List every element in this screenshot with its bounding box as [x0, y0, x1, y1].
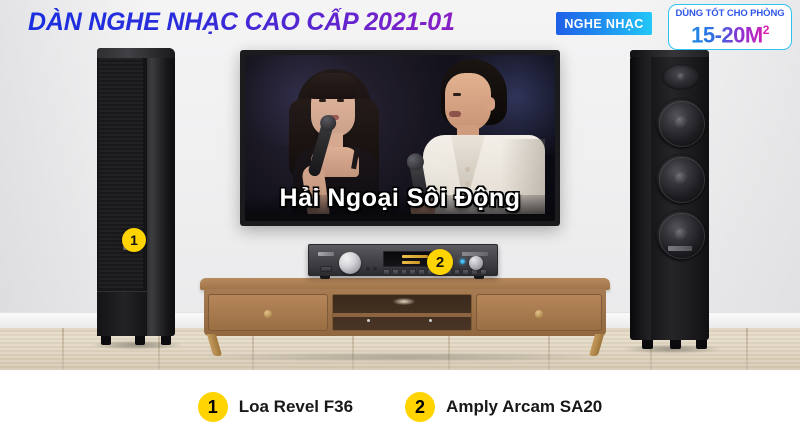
tv-screen-bottom-band: [245, 214, 555, 221]
left-speaker-grille-cloth: [99, 58, 143, 290]
right-speaker-foot-mid: [670, 340, 681, 349]
amp-source-button[interactable]: [383, 269, 390, 275]
room-scene: Hải Ngoại Sôi Động: [0, 0, 800, 370]
male-singer-mouth: [449, 111, 461, 117]
tv-stand-shadow: [190, 352, 620, 362]
amplifier: [308, 244, 498, 280]
left-speaker-foot-front: [101, 336, 111, 345]
amp-volume-knob[interactable]: [339, 252, 361, 274]
left-speaker-foot-mid: [135, 336, 145, 345]
amp-small-switches[interactable]: [366, 267, 378, 271]
amp-brand-logo: [318, 252, 334, 256]
tv-stand-drawer-right[interactable]: [476, 294, 602, 331]
shelf-indicator-left: [367, 319, 370, 322]
tweeter-driver: [662, 64, 700, 90]
amp-display-line-2: [402, 261, 420, 264]
television: Hải Ngoại Sôi Động: [240, 50, 560, 226]
woofer-driver-1: [656, 98, 706, 148]
category-badge-label: NGHE NHẠC: [564, 17, 643, 31]
right-speaker-foot-front: [696, 340, 707, 349]
right-speaker-brand-logo: [668, 246, 692, 251]
category-badge: NGHE NHẠC: [556, 12, 652, 35]
left-speaker-lower-panel: [97, 292, 147, 336]
room-size-badge-value: 15-20M2: [691, 19, 769, 46]
tv-stand-body: [204, 289, 606, 336]
callout-marker-2: 2: [427, 249, 453, 275]
female-singer-eye-left: [319, 99, 326, 102]
left-speaker-foot-rear: [161, 336, 171, 345]
room-size-superscript: 2: [763, 23, 769, 37]
legend-number-1: 1: [198, 392, 228, 422]
page-title: DÀN NGHE NHẠC CAO CẤP 2021-01: [28, 8, 455, 37]
amp-source-button[interactable]: [462, 269, 469, 275]
tv-stand-open-shelf: [332, 294, 472, 331]
shelf-divider: [333, 313, 471, 317]
shelf-indicator-right: [429, 319, 432, 322]
woofer-driver-3: [656, 210, 706, 260]
left-speaker-side-panel: [145, 48, 175, 336]
female-singer-eye-right: [337, 99, 344, 102]
amp-standby-led: [460, 259, 465, 264]
callout-marker-1: 1: [122, 228, 146, 252]
amp-chassis: [308, 244, 498, 276]
amp-source-button[interactable]: [454, 269, 461, 275]
right-speaker-top-panel: [630, 50, 709, 57]
room-size-badge: DÙNG TỐT CHO PHÒNG 15-20M2: [668, 4, 792, 50]
shelf-highlight: [393, 298, 415, 305]
left-floorstanding-speaker: [95, 48, 175, 348]
amp-power-button[interactable]: [320, 266, 332, 272]
right-floorstanding-speaker: [630, 50, 716, 350]
amp-display-line-1: [402, 255, 428, 258]
tv-caption-text: Hải Ngoại Sôi Động: [245, 184, 555, 213]
legend-number-2: 2: [405, 392, 435, 422]
female-singer-fringe: [307, 73, 359, 99]
legend-label-1: Loa Revel F36: [239, 397, 353, 417]
legend-item-1: 1 Loa Revel F36: [198, 392, 353, 422]
product-scene-banner: Hải Ngoại Sôi Động: [0, 0, 800, 444]
male-singer-ear: [485, 97, 495, 111]
jacket-button-1: [465, 167, 470, 172]
amp-source-button[interactable]: [409, 269, 416, 275]
tv-stand: [200, 278, 610, 348]
legend-label-2: Amply Arcam SA20: [446, 397, 602, 417]
amp-input-selector-knob[interactable]: [469, 256, 483, 270]
room-size-badge-caption: DÙNG TỐT CHO PHÒNG: [675, 8, 784, 19]
legend-item-2: 2 Amply Arcam SA20: [405, 392, 602, 422]
tv-screen: Hải Ngoại Sôi Động: [245, 55, 555, 221]
amp-source-button[interactable]: [401, 269, 408, 275]
amp-source-button[interactable]: [418, 269, 425, 275]
room-size-number: 15-20M: [691, 22, 763, 47]
drawer-knob-left[interactable]: [264, 310, 272, 318]
drawer-knob-right[interactable]: [535, 310, 543, 318]
product-legend: 1 Loa Revel F36 2 Amply Arcam SA20: [0, 370, 800, 444]
amp-source-button[interactable]: [392, 269, 399, 275]
woofer-driver-2: [656, 154, 706, 204]
amp-source-button[interactable]: [480, 269, 487, 275]
tv-stand-drawer-left[interactable]: [208, 294, 328, 331]
left-speaker-top-panel: [97, 48, 175, 58]
male-singer-eye: [453, 93, 461, 96]
right-speaker-foot-rear: [642, 340, 653, 349]
right-speaker-side-panel: [630, 56, 652, 340]
